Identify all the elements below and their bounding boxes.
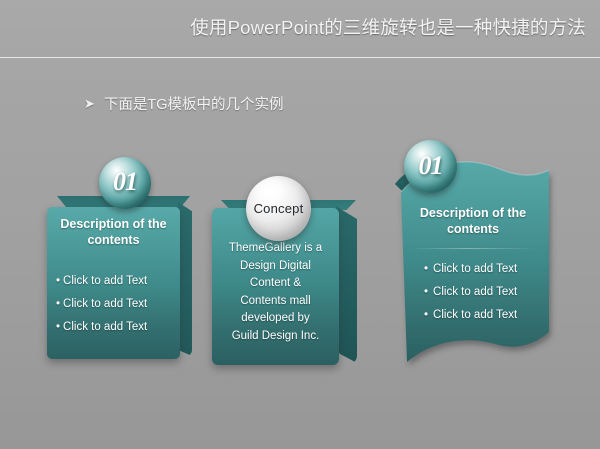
header-divider: [0, 57, 600, 58]
page-title: 使用PowerPoint的三维旋转也是一种快捷的方法: [190, 14, 586, 40]
card-side-face: [178, 202, 192, 356]
badge-label: Concept: [254, 201, 304, 216]
card-divider: [411, 248, 537, 249]
arrow-right-icon: ➤: [84, 97, 95, 110]
subtitle-row: ➤ 下面是TG模板中的几个实例: [84, 93, 284, 114]
list-item: Click to add Text: [56, 316, 147, 339]
badge-number: 01: [113, 167, 137, 197]
badge-sphere-01-banner[interactable]: 01: [404, 140, 457, 193]
slide-canvas: 使用PowerPoint的三维旋转也是一种快捷的方法 ➤ 下面是TG模板中的几个…: [0, 0, 600, 449]
slide-header: 使用PowerPoint的三维旋转也是一种快捷的方法: [0, 0, 600, 57]
badge-sphere-concept[interactable]: Concept: [246, 176, 311, 241]
badge-sphere-01[interactable]: 01: [99, 157, 151, 209]
body-line: Content &: [216, 275, 335, 293]
card-heading: Description of the contents: [403, 205, 543, 237]
body-line: developed by: [216, 310, 335, 328]
list-item: Click to add Text: [424, 304, 517, 327]
list-item: Click to add Text: [56, 293, 147, 316]
card-bullet-list: Click to add Text Click to add Text Clic…: [424, 258, 517, 327]
card-side-face: [336, 203, 357, 363]
list-item: Click to add Text: [424, 258, 517, 281]
list-item: Click to add Text: [424, 281, 517, 304]
card-bullet-list: Click to add Text Click to add Text Clic…: [56, 270, 147, 339]
body-line: Design Digital: [216, 258, 335, 276]
body-line: Guild Design Inc.: [216, 328, 335, 346]
list-item: Click to add Text: [56, 270, 147, 293]
card-box-01[interactable]: Description of the contents Click to add…: [47, 196, 192, 368]
badge-number: 01: [419, 151, 443, 181]
card-heading: Description of the contents: [47, 216, 180, 248]
card-body-text: ThemeGallery is a Design Digital Content…: [216, 240, 335, 345]
body-line: ThemeGallery is a: [216, 240, 335, 258]
subtitle-label: 下面是TG模板中的几个实例: [104, 93, 284, 114]
body-line: Contents mall: [216, 293, 335, 311]
